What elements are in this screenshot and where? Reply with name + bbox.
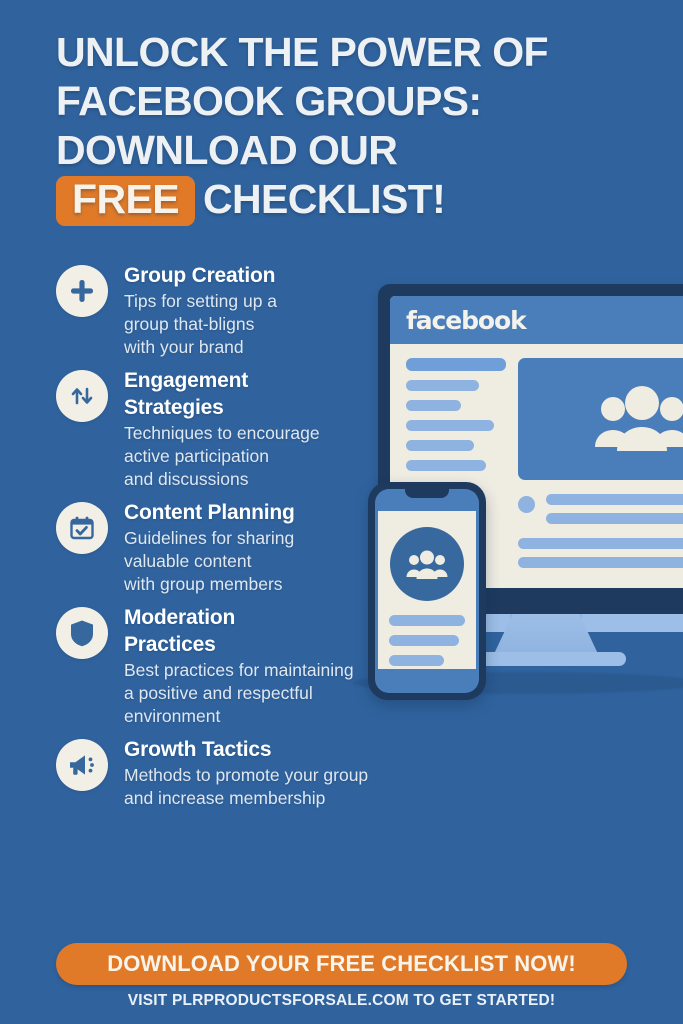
shield-icon	[56, 607, 108, 659]
desc-line: with group members	[124, 573, 476, 596]
free-badge: FREE	[56, 176, 195, 226]
headline-line-2: FACEBOOK GROUPS:	[56, 77, 616, 126]
monitor-hero-card	[518, 358, 683, 480]
desc-line: Tips for setting up a	[124, 290, 476, 313]
list-item: Group Creation Tips for setting up a gro…	[56, 262, 476, 359]
desc-line: group that-bligns	[124, 313, 476, 336]
list-item-desc: Methods to promote your group and increa…	[124, 764, 476, 810]
page-title: UNLOCK THE POWER OF FACEBOOK GROUPS: DOW…	[56, 28, 616, 226]
megaphone-icon	[56, 739, 108, 791]
monitor-post-placeholders	[518, 494, 683, 576]
title-line: Practices	[124, 631, 476, 658]
desc-line: valuable content	[124, 550, 476, 573]
title-line: Engagement	[124, 367, 476, 394]
desc-line: and discussions	[124, 468, 476, 491]
monitor-stand-base	[468, 652, 626, 666]
list-item: Growth Tactics Methods to promote your g…	[56, 736, 476, 810]
footer-website-text: VISIT PLRPRODUCTSFORSALE.COM TO GET STAR…	[0, 992, 683, 1010]
placeholder-bar	[518, 538, 683, 549]
desc-line: Methods to promote your group	[124, 764, 476, 787]
placeholder-bar	[518, 557, 683, 568]
list-item-desc: Tips for setting up a group that-bligns …	[124, 290, 476, 359]
shield-glyph-icon	[68, 618, 96, 648]
headline-checklist-word: CHECKLIST!	[203, 176, 445, 222]
desc-line: Techniques to encourage	[124, 422, 476, 445]
list-item-text: Growth Tactics Methods to promote your g…	[124, 736, 476, 810]
list-item-text: Group Creation Tips for setting up a gro…	[124, 262, 476, 359]
desc-line: and increase membership	[124, 787, 476, 810]
list-item-desc: Guidelines for sharing valuable content …	[124, 527, 476, 596]
desc-line: Best practices for maintaining	[124, 659, 476, 682]
megaphone-glyph-icon	[67, 751, 97, 779]
title-line: Moderation	[124, 604, 476, 631]
headline-line-1: UNLOCK THE POWER OF	[56, 28, 616, 77]
placeholder-bar	[546, 494, 683, 505]
list-item-title: Content Planning	[124, 499, 476, 526]
list-item-title: Group Creation	[124, 262, 476, 289]
title-line: Strategies	[124, 394, 476, 421]
avatar-placeholder	[518, 496, 535, 513]
up-down-arrows-icon	[68, 382, 96, 410]
list-item-desc: Best practices for maintaining a positiv…	[124, 659, 476, 728]
list-item: Moderation Practices Best practices for …	[56, 604, 476, 728]
feature-list: Group Creation Tips for setting up a gro…	[56, 262, 476, 818]
list-item-title: Engagement Strategies	[124, 367, 476, 421]
list-item-text: Engagement Strategies Techniques to enco…	[124, 367, 476, 491]
headline-line-4: FREECHECKLIST!	[56, 175, 616, 226]
placeholder-bar	[546, 513, 683, 524]
list-item-text: Content Planning Guidelines for sharing …	[124, 499, 476, 596]
desc-line: environment	[124, 705, 476, 728]
list-item-desc: Techniques to encourage active participa…	[124, 422, 476, 491]
monitor-stand-neck	[510, 614, 582, 654]
exchange-arrows-icon	[56, 370, 108, 422]
download-checklist-button[interactable]: DOWNLOAD YOUR FREE CHECKLIST NOW!	[56, 943, 627, 985]
calendar-icon	[68, 514, 96, 542]
list-item-text: Moderation Practices Best practices for …	[124, 604, 476, 728]
headline-line-3: DOWNLOAD OUR	[56, 126, 616, 175]
desc-line: Guidelines for sharing	[124, 527, 476, 550]
group-people-icon	[588, 385, 683, 453]
calendar-check-icon	[56, 502, 108, 554]
plus-icon	[67, 276, 97, 306]
desc-line: active participation	[124, 445, 476, 468]
desc-line: with your brand	[124, 336, 476, 359]
list-item-title: Moderation Practices	[124, 604, 476, 658]
list-item: Content Planning Guidelines for sharing …	[56, 499, 476, 596]
list-item: Engagement Strategies Techniques to enco…	[56, 367, 476, 491]
cta-label: DOWNLOAD YOUR FREE CHECKLIST NOW!	[107, 951, 576, 977]
plus-circle-icon	[56, 265, 108, 317]
desc-line: a positive and respectful	[124, 682, 476, 705]
list-item-title: Growth Tactics	[124, 736, 476, 763]
infographic-poster: facebook	[0, 0, 683, 1024]
